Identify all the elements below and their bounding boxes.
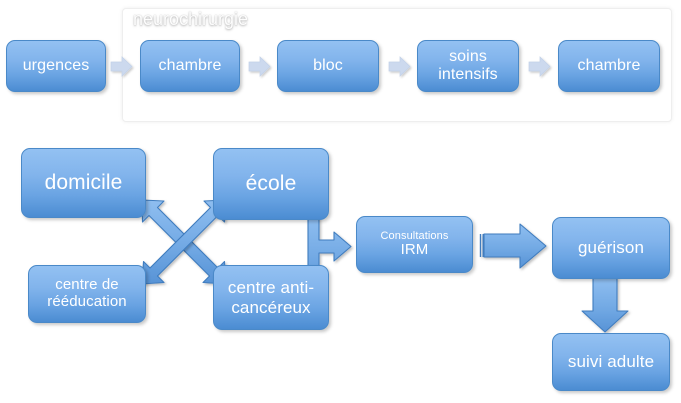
node-consultations-irm[interactable]: ConsultationsIRM xyxy=(356,216,473,273)
node-guerison[interactable]: guérison xyxy=(552,217,670,279)
node-urgences[interactable]: urgences xyxy=(6,40,106,92)
node-label-line1: centre de xyxy=(55,276,118,293)
node-domicile[interactable]: domicile xyxy=(21,148,146,218)
node-chambre-2[interactable]: chambre xyxy=(558,40,660,92)
node-label-line1: soins xyxy=(449,48,487,65)
node-label-line1: centre anti- xyxy=(228,278,314,297)
node-chambre-1[interactable]: chambre xyxy=(140,40,240,92)
node-bloc[interactable]: bloc xyxy=(277,40,379,92)
node-centre-reeducation[interactable]: centre derééducation xyxy=(28,265,146,323)
node-label-line2: cancéreux xyxy=(231,298,310,317)
node-label: domicile xyxy=(22,171,145,195)
node-label: centre anti-cancéreux xyxy=(214,278,328,316)
node-soins-intensifs[interactable]: soinsintensifs xyxy=(417,40,519,92)
node-centre-anti-cancereux[interactable]: centre anti-cancéreux xyxy=(213,265,329,330)
node-label-line2: IRM xyxy=(401,241,429,258)
block-arrow-down-icon-guerison-suivi xyxy=(580,273,642,335)
chevron-right-icon-1 xyxy=(111,57,133,76)
node-ecole[interactable]: école xyxy=(213,148,329,220)
node-label: école xyxy=(214,172,328,196)
node-label: suivi adulte xyxy=(553,352,669,371)
block-arrow-right-icon-irm-guerison xyxy=(478,223,548,269)
node-label: soinsintensifs xyxy=(418,48,518,84)
node-label-line2: intensifs xyxy=(438,66,498,83)
node-label: guérison xyxy=(553,238,669,257)
node-label: ConsultationsIRM xyxy=(357,230,472,259)
diagram-canvas: neurochirurgie urgences chambre bloc soi… xyxy=(0,0,681,403)
group-label-neurochirurgie: neurochirurgie xyxy=(133,9,248,30)
node-label: urgences xyxy=(7,57,105,75)
node-label-line2: rééducation xyxy=(47,293,127,310)
node-label: chambre xyxy=(141,57,239,75)
chevron-right-icon-2 xyxy=(249,57,271,76)
node-label-line1: Consultations xyxy=(381,230,449,242)
chevron-right-icon-3 xyxy=(389,57,411,76)
node-label: centre derééducation xyxy=(29,277,145,311)
node-label: chambre xyxy=(559,57,659,75)
node-label: bloc xyxy=(278,57,378,75)
chevron-right-icon-4 xyxy=(529,57,551,76)
node-suivi-adulte[interactable]: suivi adulte xyxy=(552,333,670,391)
